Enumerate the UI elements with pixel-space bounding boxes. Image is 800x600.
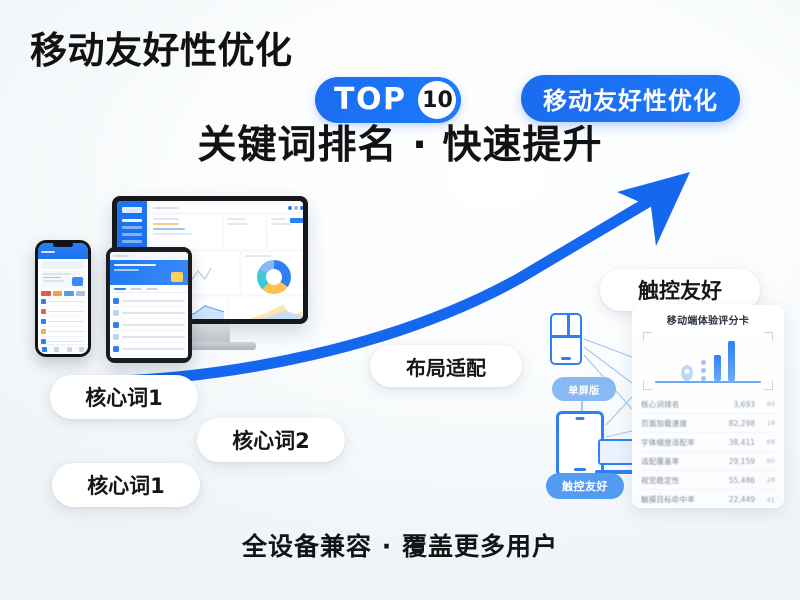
row-name: 字体缩放适配率	[641, 437, 725, 448]
poster-canvas: 移动友好性优化 TOP 10 移动友好性优化 关键词排名 · 快速提升	[0, 0, 800, 600]
area-chart-icon-2	[233, 300, 303, 319]
row-delta: 68	[755, 438, 775, 446]
row-value: 29,159	[725, 457, 755, 466]
score-card-title: 移动端体验评分卡	[641, 312, 775, 327]
row-delta: 99	[755, 400, 775, 408]
table-row: 字体缩放适配率 38,411 68	[641, 433, 775, 452]
diagram-pill-touch-friendly: 触控友好	[546, 473, 624, 499]
top-badge-number: 10	[418, 81, 456, 119]
score-card-chart	[641, 332, 775, 390]
row-value: 3,693	[725, 400, 755, 409]
phone-tab-bar	[38, 344, 88, 354]
chip-layout-adaptation[interactable]: 布局适配	[370, 345, 522, 387]
table-row: 页面加载速度 82,298 18	[641, 414, 775, 433]
chip-keyword-1[interactable]: 核心词1	[50, 375, 198, 419]
tablet-screen	[110, 252, 188, 358]
page-title: 移动友好性优化	[30, 24, 293, 78]
chip-keyword-2[interactable]: 核心词2	[197, 418, 345, 462]
row-delta: 18	[755, 419, 775, 427]
row-delta: 41	[755, 496, 775, 504]
top-rank-badge: TOP 10	[315, 77, 461, 123]
phone-search-bar	[41, 261, 85, 269]
row-name: 适配覆盖率	[641, 456, 725, 467]
row-value: 55,486	[725, 476, 755, 485]
row-name: 视觉稳定性	[641, 475, 725, 486]
chip-keyword-3[interactable]: 核心词1	[52, 463, 200, 507]
row-value: 82,298	[725, 419, 755, 428]
phone-notch	[53, 242, 73, 247]
table-row: 触摸目标命中率 22,449 41	[641, 490, 775, 509]
row-value: 38,411	[725, 438, 755, 447]
phone-mockup	[35, 240, 91, 357]
table-row: 适配覆盖率 29,159 60	[641, 452, 775, 471]
donut-chart-icon	[257, 260, 291, 294]
row-name: 页面加载速度	[641, 418, 725, 429]
score-card-rows: 核心词排名 3,693 99 页面加载速度 82,298 18 字体缩放适配率 …	[641, 395, 775, 509]
row-name: 核心词排名	[641, 399, 725, 410]
row-delta: 60	[755, 457, 775, 465]
row-value: 22,449	[725, 495, 755, 504]
top-badge-label: TOP	[334, 85, 418, 115]
tag-pill-badge: 移动友好性优化	[521, 75, 740, 122]
diagram-phone-icon	[550, 313, 582, 365]
location-pin-icon	[681, 365, 693, 381]
touch-friendly-diagram: 单屏版 触控友好 移动端体验评分卡	[540, 305, 790, 515]
diagram-tablet-icon	[556, 411, 604, 477]
table-row: 核心词排名 3,693 99	[641, 395, 775, 414]
diagram-pill-split-screen: 单屏版	[552, 377, 616, 401]
footer-tagline: 全设备兼容 · 覆盖更多用户	[0, 527, 800, 563]
header-row: 移动友好性优化 TOP 10 移动友好性优化	[0, 24, 800, 86]
row-delta: 28	[755, 476, 775, 484]
device-mockups	[24, 190, 354, 370]
mobile-experience-score-card: 移动端体验评分卡 核心词排名 3,693 99	[632, 305, 784, 508]
monitor-stand-neck	[190, 324, 230, 343]
phone-screen	[38, 243, 88, 354]
tablet-mockup	[106, 247, 192, 363]
row-name: 触摸目标命中率	[641, 494, 725, 505]
table-row: 视觉稳定性 55,486 28	[641, 471, 775, 490]
